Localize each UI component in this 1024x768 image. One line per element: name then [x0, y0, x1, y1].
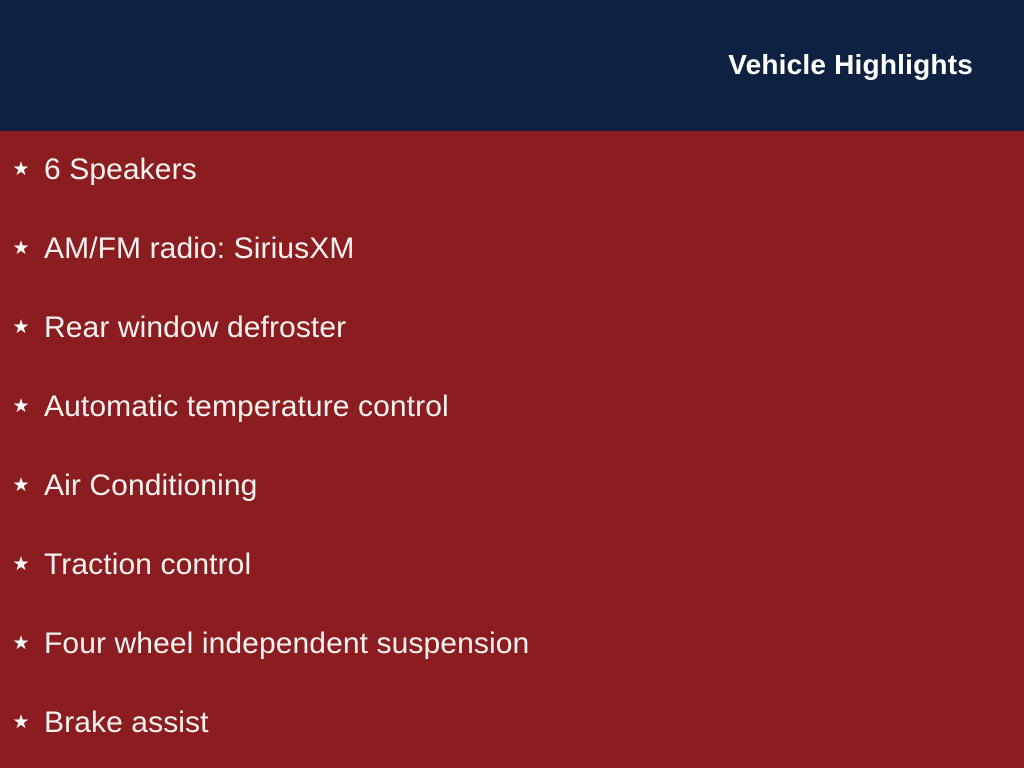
- feature-label: 6 Speakers: [44, 152, 197, 188]
- feature-label: Brake assist: [44, 705, 209, 741]
- star-icon: ★: [6, 555, 36, 574]
- slide-header-bar: Vehicle Highlights: [0, 0, 1024, 131]
- list-item: ★AM/FM radio: SiriusXM: [0, 229, 1024, 269]
- feature-label: AM/FM radio: SiriusXM: [44, 231, 354, 267]
- star-icon: ★: [6, 160, 36, 179]
- list-item: ★Rear window defroster: [0, 308, 1024, 348]
- feature-label: Air Conditioning: [44, 468, 257, 504]
- list-item: ★Traction control: [0, 545, 1024, 585]
- feature-list: ★6 Speakers★AM/FM radio: SiriusXM★Rear w…: [0, 131, 1024, 768]
- feature-label: Rear window defroster: [44, 310, 346, 346]
- star-icon: ★: [6, 239, 36, 258]
- star-icon: ★: [6, 397, 36, 416]
- list-item: ★Automatic temperature control: [0, 387, 1024, 427]
- page-title: Vehicle Highlights: [728, 48, 973, 82]
- star-icon: ★: [6, 476, 36, 495]
- star-icon: ★: [6, 634, 36, 653]
- feature-label: Automatic temperature control: [44, 389, 449, 425]
- vehicle-highlights-slide: Vehicle Highlights ★6 Speakers★AM/FM rad…: [0, 0, 1024, 768]
- list-item: ★Four wheel independent suspension: [0, 624, 1024, 664]
- star-icon: ★: [6, 713, 36, 732]
- list-item: ★Brake assist: [0, 703, 1024, 743]
- list-item: ★6 Speakers: [0, 150, 1024, 190]
- star-icon: ★: [6, 318, 36, 337]
- list-item: ★Air Conditioning: [0, 466, 1024, 506]
- feature-label: Traction control: [44, 547, 251, 583]
- feature-label: Four wheel independent suspension: [44, 626, 529, 662]
